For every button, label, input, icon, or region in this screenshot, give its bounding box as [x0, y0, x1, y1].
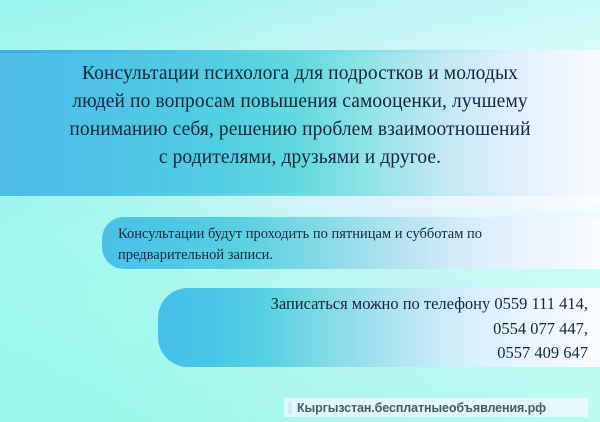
contact-line-1: Записаться можно по телефону 0559 111 41…: [180, 292, 588, 317]
headline-line-2: людей по вопросам повышения самооценки, …: [20, 88, 580, 116]
contact-line-3: 0557 409 647: [180, 341, 588, 366]
schedule-note-line-1: Консультации будут проходить по пятницам…: [118, 224, 588, 245]
watermark-accent-bar: [288, 401, 292, 414]
schedule-note-text: Консультации будут проходить по пятницам…: [118, 224, 588, 266]
poster-canvas: Консультации психолога для подростков и …: [0, 0, 600, 422]
banner-bottom-edge: [0, 193, 600, 196]
headline-line-1: Консультации психолога для подростков и …: [20, 60, 580, 88]
headline-line-4: с родителями, друзьями и другое.: [20, 144, 580, 172]
contact-text: Записаться можно по телефону 0559 111 41…: [180, 292, 588, 366]
schedule-note-line-2: предварительной записи.: [118, 245, 588, 266]
headline-line-3: пониманию себя, решению проблем взаимоот…: [20, 116, 580, 144]
banner-top-edge: [0, 50, 600, 53]
watermark-text: Кыргызстан.бесплатныеобъявления.рф: [297, 401, 546, 415]
watermark: Кыргызстан.бесплатныеобъявления.рф: [284, 398, 588, 417]
headline-text: Консультации психолога для подростков и …: [20, 60, 580, 172]
contact-line-2: 0554 077 447,: [180, 317, 588, 342]
